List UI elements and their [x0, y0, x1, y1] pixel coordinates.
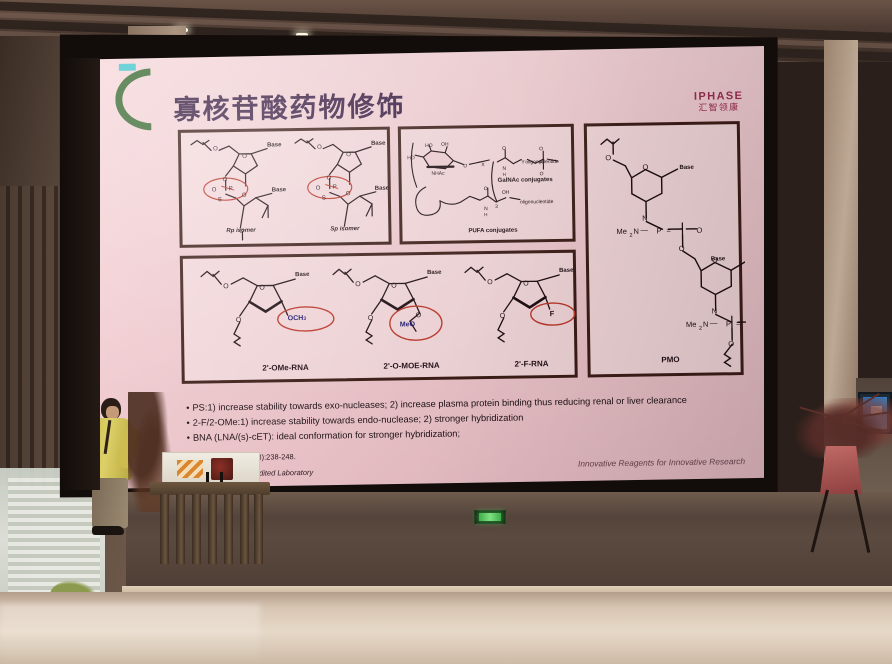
highlight-meo: MeO	[400, 321, 415, 328]
podium	[150, 452, 270, 564]
podium-signage	[162, 452, 260, 485]
chem-label-base: Base	[711, 256, 725, 262]
svg-text:N: N	[703, 320, 709, 329]
panel-sugar-modifications: O O O O O O O O O O Base Base Base OCH3 …	[180, 250, 578, 384]
svg-text:O: O	[523, 280, 529, 287]
bullet-text-bna: BNA (LNA/(s)-cET): ideal conformation fo…	[193, 429, 460, 443]
svg-text:O: O	[242, 193, 247, 199]
chem-label-base: Base	[371, 141, 385, 147]
bullet-marker: •	[186, 403, 189, 413]
bullet-list: •PS:1) increase stability towards exo-nu…	[186, 392, 747, 446]
brand-logo-english: IPHASE	[694, 91, 744, 103]
svg-text:2: 2	[699, 326, 702, 332]
svg-text:P: P	[229, 186, 233, 192]
svg-text:O: O	[213, 146, 218, 152]
bullet-text-2f-2ome: 2-F/2-OMe:1) increase stability towards …	[193, 413, 524, 428]
structure-label-moe-rna: 2'-O-MOE-RNA	[356, 360, 466, 371]
podium-slat	[254, 494, 263, 564]
presenter-shoe	[92, 526, 124, 535]
chem-label-oligonucleotide: oligonucleotide	[520, 199, 553, 206]
structure-label-f-rna: 2'-F-RNA	[484, 359, 578, 369]
svg-text:O: O	[416, 312, 422, 319]
svg-text:O: O	[500, 313, 506, 320]
svg-text:O: O	[605, 153, 611, 162]
brand-logo-chinese: 汇智领康	[694, 104, 743, 114]
isomer-label-rp: Rp isomer	[226, 228, 255, 234]
flower-arrangement	[796, 398, 892, 528]
chem-label-base: Base	[679, 165, 693, 171]
podium-slat	[240, 494, 249, 564]
chem-label-oligonucleotide: oligonucleotide	[525, 159, 558, 166]
svg-text:O: O	[502, 146, 506, 152]
page-title: 寡核苷酸药物修饰	[173, 84, 406, 127]
svg-text:=: =	[666, 226, 671, 235]
podium-slat	[160, 494, 169, 564]
svg-text:—: —	[640, 226, 648, 235]
highlight-f: F	[550, 309, 555, 318]
svg-text:O: O	[368, 315, 374, 322]
svg-text:2: 2	[629, 233, 632, 239]
isomer-label-sp: Sp isomer	[330, 226, 359, 232]
svg-text:O: O	[327, 176, 332, 182]
svg-text:O: O	[642, 163, 648, 172]
structure-label-ome-rna: 2'-OMe-RNA	[230, 362, 340, 373]
svg-text:O: O	[259, 285, 265, 292]
svg-text:O: O	[679, 244, 685, 253]
svg-text:P: P	[333, 184, 337, 190]
svg-text:O: O	[212, 187, 217, 193]
svg-text:O: O	[484, 186, 488, 192]
svg-text:S: S	[322, 196, 326, 202]
svg-text:N: N	[712, 306, 718, 315]
svg-text:Me: Me	[686, 320, 697, 329]
svg-text:O: O	[346, 191, 351, 197]
svg-text:H: H	[503, 172, 506, 177]
svg-text:=: =	[736, 319, 741, 328]
svg-text:O: O	[223, 283, 229, 290]
svg-text:P: P	[656, 226, 661, 235]
svg-text:O: O	[487, 279, 493, 286]
svg-text:O: O	[539, 146, 543, 152]
caption-pufa-conjugates: PUFA conjugates	[468, 228, 517, 235]
svg-text:O: O	[391, 282, 397, 289]
panel-pmo: O O N P O O O N P O Me 2 N Me 2 N —	[584, 121, 744, 377]
svg-text:O: O	[242, 154, 247, 160]
svg-text:H: H	[484, 212, 487, 217]
chem-label-base: Base	[267, 142, 281, 148]
caption-galnac-conjugates: GalNAc conjugates	[498, 177, 553, 184]
conference-room-photo: 寡核苷酸药物修饰 IPHASE 汇智领康	[0, 0, 892, 664]
svg-text:O: O	[316, 186, 321, 192]
svg-text:—: —	[710, 318, 718, 327]
svg-text:OH: OH	[502, 190, 510, 196]
svg-text:S: S	[218, 197, 222, 203]
cyan-accent-mark	[119, 64, 136, 71]
svg-text:O: O	[463, 163, 467, 169]
svg-text:HO: HO	[425, 143, 433, 149]
svg-text:O: O	[728, 339, 734, 348]
podium-logo-mark	[177, 460, 203, 478]
bullet-marker: •	[186, 418, 189, 428]
chem-label-base: Base	[559, 268, 573, 274]
svg-text:P: P	[726, 319, 731, 328]
panel-phosphorothioate: O O O O P S O O O O O O P S O Base	[178, 127, 392, 248]
svg-text:HO: HO	[407, 155, 415, 161]
svg-text:NHAc: NHAc	[431, 171, 445, 177]
panel-conjugates: HO OH HO NHAc O X 3 O N H Y O O P O N H	[398, 124, 576, 245]
podium-slat	[176, 494, 185, 564]
svg-text:N: N	[642, 214, 648, 223]
chem-label-base: Base	[375, 186, 389, 192]
podium-slat	[192, 494, 201, 564]
bullet-marker: •	[187, 433, 190, 443]
svg-text:O: O	[236, 317, 242, 324]
chem-label-base: Base	[427, 270, 441, 276]
svg-text:O: O	[346, 152, 351, 158]
brand-tagline: Innovative Reagents for Innovative Resea…	[578, 456, 745, 469]
chem-label-base: Base	[295, 272, 309, 278]
podium-slat	[208, 494, 217, 564]
svg-text:X: X	[481, 162, 485, 168]
svg-text:3: 3	[495, 204, 498, 210]
structure-label-pmo: PMO	[630, 355, 710, 365]
highlight-och3: OCH3	[288, 315, 306, 322]
flower-wrapping	[820, 446, 862, 494]
svg-text:O: O	[317, 145, 322, 151]
podium-slat	[224, 494, 233, 564]
presentation-slide: 寡核苷酸药物修饰 IPHASE 汇智领康	[92, 46, 764, 489]
svg-text:Me: Me	[616, 227, 627, 236]
chem-label-base: Base	[272, 187, 286, 193]
floor-reflection	[0, 604, 260, 664]
exit-sign	[474, 510, 506, 524]
svg-text:O: O	[696, 226, 702, 235]
svg-text:O: O	[223, 177, 228, 183]
svg-text:O: O	[355, 281, 361, 288]
svg-text:OH: OH	[441, 142, 449, 148]
svg-text:N: N	[633, 227, 639, 236]
brand-logo: IPHASE 汇智领康	[694, 91, 744, 114]
screen-bezel-left	[62, 58, 100, 490]
